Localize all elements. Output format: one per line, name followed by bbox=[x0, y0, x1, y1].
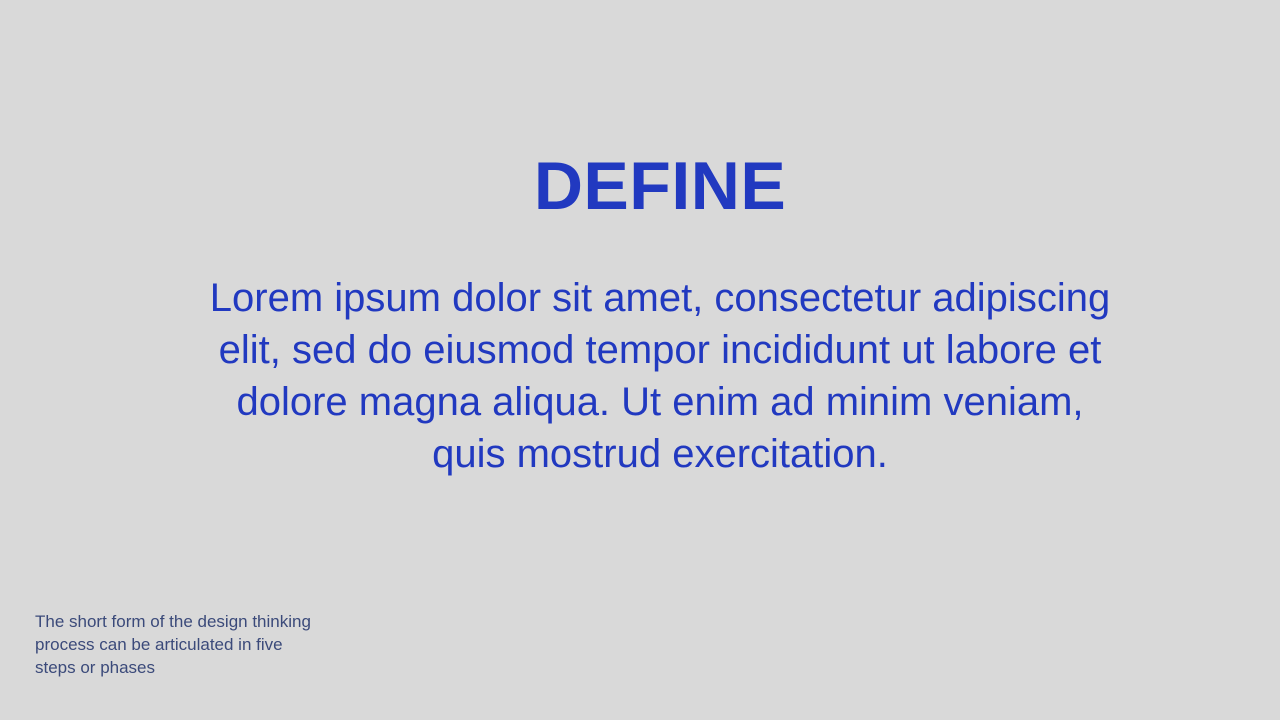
page-title: DEFINE bbox=[160, 150, 1160, 222]
slide-canvas: DEFINE Lorem ipsum dolor sit amet, conse… bbox=[0, 0, 1280, 720]
footnote-line: process can be articulated in five bbox=[35, 633, 395, 656]
slide-footnote: The short form of the design thinking pr… bbox=[35, 610, 395, 679]
slide-body-text: Lorem ipsum dolor sit amet, consectetur … bbox=[160, 272, 1160, 480]
footnote-line: The short form of the design thinking bbox=[35, 610, 395, 633]
title-body-spacer bbox=[160, 222, 1160, 272]
slide-content-block: DEFINE Lorem ipsum dolor sit amet, conse… bbox=[160, 150, 1160, 480]
footnote-line: steps or phases bbox=[35, 656, 395, 679]
